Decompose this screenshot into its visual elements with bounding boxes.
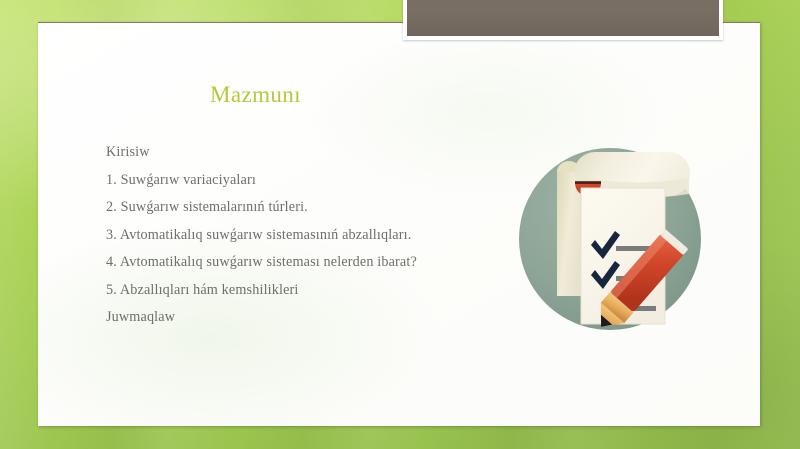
list-item: 1. Suwǵarıw variaciyaları xyxy=(106,167,506,195)
list-item: Juwmaqlaw xyxy=(106,304,506,332)
presentation-slide-canvas: Mazmunı Kirisiw 1. Suwǵarıw variaciyalar… xyxy=(0,0,800,449)
list-item: 5. Abzallıqları hám kemshilikleri xyxy=(106,277,506,305)
list-item: Kirisiw xyxy=(106,139,506,167)
list-item: 3. Avtomatikalıq suwǵarıw sistemasınıń a… xyxy=(106,222,506,250)
page-title: Mazmunı xyxy=(210,82,301,108)
list-item: 2. Suwǵarıw sistemalarınıń túrleri. xyxy=(106,194,506,222)
seal-ribbon-edge xyxy=(575,181,601,184)
slide-content-card: Mazmunı Kirisiw 1. Suwǵarıw variaciyalar… xyxy=(38,22,760,426)
contents-list: Kirisiw 1. Suwǵarıw variaciyaları 2. Suw… xyxy=(106,139,506,332)
top-banner-bar xyxy=(403,0,723,40)
checklist-clipboard-pencil-icon xyxy=(519,124,701,354)
list-item: 4. Avtomatikalıq suwǵarıw sisteması nele… xyxy=(106,249,506,277)
